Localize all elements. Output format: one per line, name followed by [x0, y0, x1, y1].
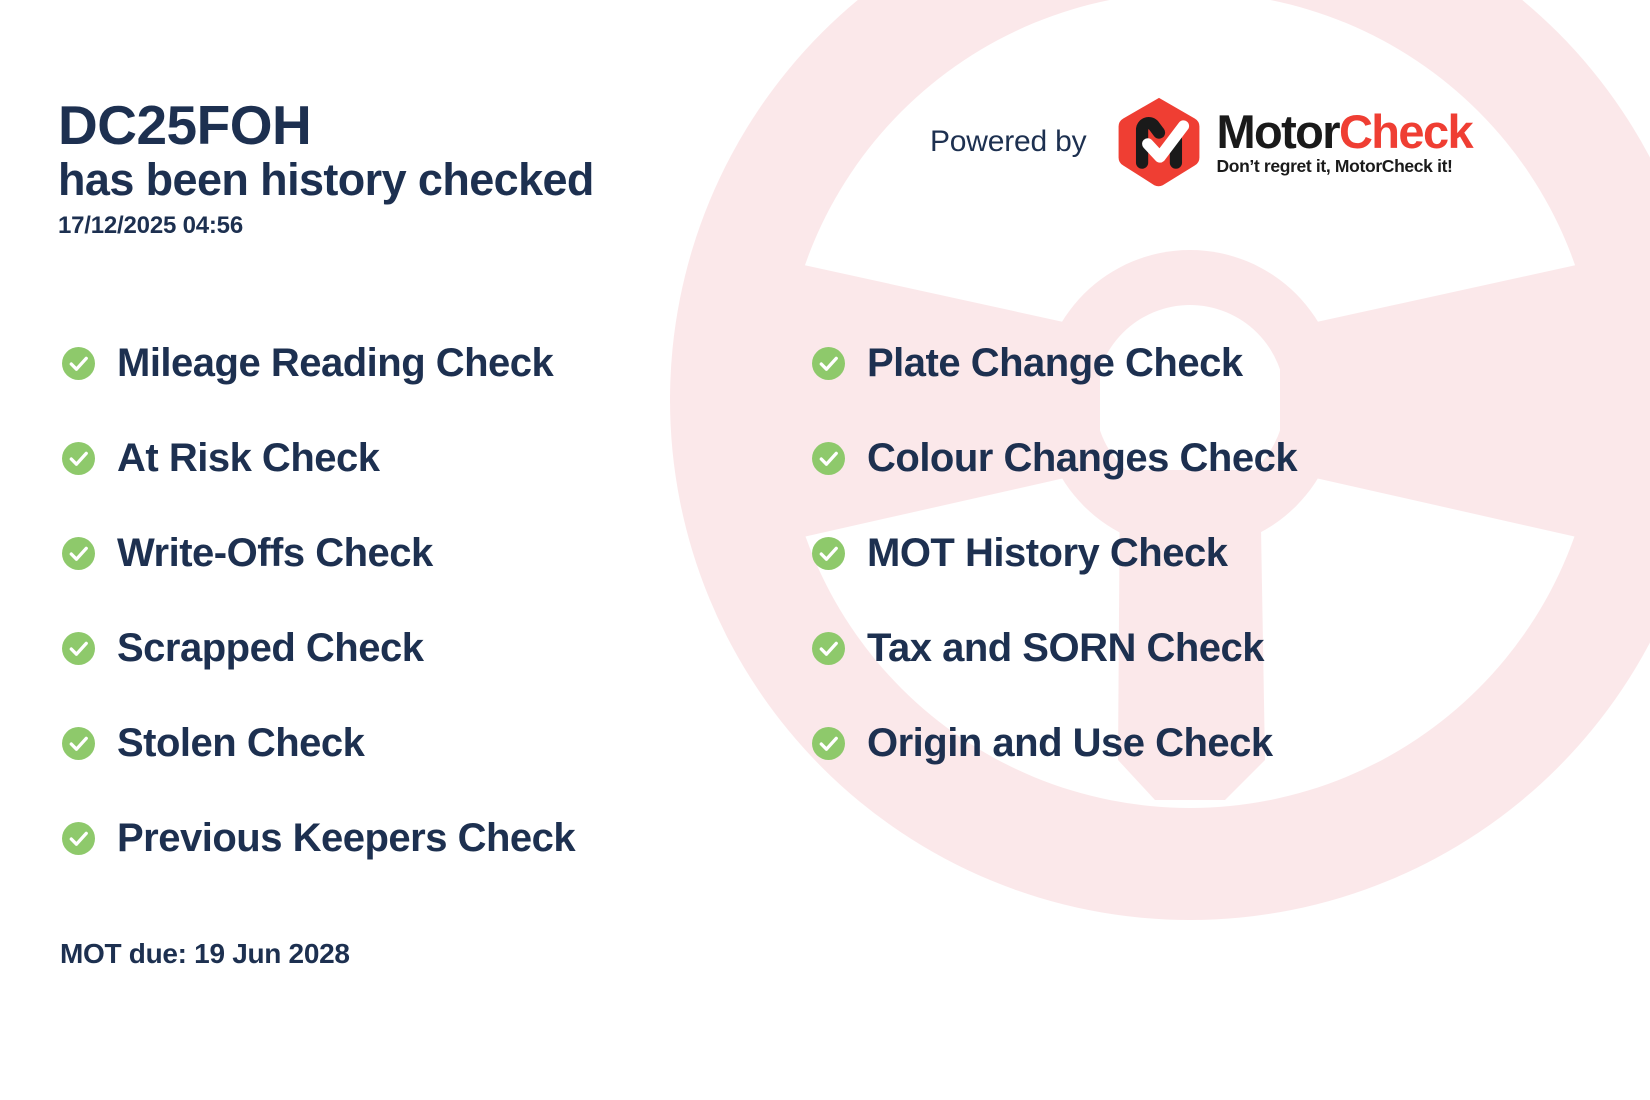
- green-check-circle-icon: [62, 632, 95, 665]
- check-timestamp: 17/12/2025 04:56: [58, 212, 818, 240]
- green-check-circle-icon: [62, 537, 95, 570]
- green-check-circle-icon: [812, 632, 845, 665]
- wordmark-motor: Motor: [1216, 105, 1339, 158]
- motorcheck-wordmark: MotorCheck: [1216, 108, 1472, 155]
- green-check-circle-icon: [812, 442, 845, 475]
- history-check-banner: DC25FOH has been history checked 17/12/2…: [0, 0, 1650, 1100]
- powered-by-label: Powered by: [930, 125, 1086, 159]
- check-item-label: MOT History Check: [867, 531, 1227, 576]
- header-block: DC25FOH has been history checked 17/12/2…: [58, 96, 818, 240]
- check-item-label: Colour Changes Check: [867, 436, 1297, 481]
- check-item: Tax and SORN Check: [812, 601, 1572, 696]
- check-item-label: Tax and SORN Check: [867, 626, 1264, 671]
- check-item-label: Write-Offs Check: [117, 531, 433, 576]
- check-item-label: Mileage Reading Check: [117, 341, 553, 386]
- green-check-circle-icon: [812, 347, 845, 380]
- motorcheck-hexagon-logo-icon: [1112, 95, 1206, 189]
- check-item-label: Scrapped Check: [117, 626, 423, 671]
- check-item: Previous Keepers Check: [62, 791, 762, 886]
- check-item: Origin and Use Check: [812, 696, 1572, 791]
- check-item: MOT History Check: [812, 506, 1572, 601]
- check-item-label: Stolen Check: [117, 721, 364, 766]
- powered-by-block: Powered by MotorCheck Don’t regret it, M…: [930, 95, 1472, 189]
- motorcheck-tagline: Don’t regret it, MotorCheck it!: [1216, 158, 1472, 176]
- checks-left-column: Mileage Reading Check At Risk Check Writ…: [62, 316, 762, 886]
- check-item-label: Plate Change Check: [867, 341, 1243, 386]
- check-item-label: At Risk Check: [117, 436, 379, 481]
- check-item-label: Origin and Use Check: [867, 721, 1273, 766]
- check-item: Write-Offs Check: [62, 506, 762, 601]
- green-check-circle-icon: [812, 537, 845, 570]
- green-check-circle-icon: [62, 727, 95, 760]
- check-item: Mileage Reading Check: [62, 316, 762, 411]
- check-item: Plate Change Check: [812, 316, 1572, 411]
- check-item-label: Previous Keepers Check: [117, 816, 575, 861]
- motorcheck-logo[interactable]: MotorCheck Don’t regret it, MotorCheck i…: [1112, 95, 1472, 189]
- headline-text: has been history checked: [58, 154, 818, 205]
- mot-due-text: MOT due: 19 Jun 2028: [60, 938, 350, 970]
- green-check-circle-icon: [812, 727, 845, 760]
- checks-right-column: Plate Change Check Colour Changes Check …: [812, 316, 1572, 791]
- check-item: At Risk Check: [62, 411, 762, 506]
- green-check-circle-icon: [62, 442, 95, 475]
- wordmark-check: Check: [1339, 105, 1472, 158]
- green-check-circle-icon: [62, 347, 95, 380]
- check-item: Stolen Check: [62, 696, 762, 791]
- check-item: Colour Changes Check: [812, 411, 1572, 506]
- check-item: Scrapped Check: [62, 601, 762, 696]
- green-check-circle-icon: [62, 822, 95, 855]
- vehicle-registration: DC25FOH: [58, 96, 818, 154]
